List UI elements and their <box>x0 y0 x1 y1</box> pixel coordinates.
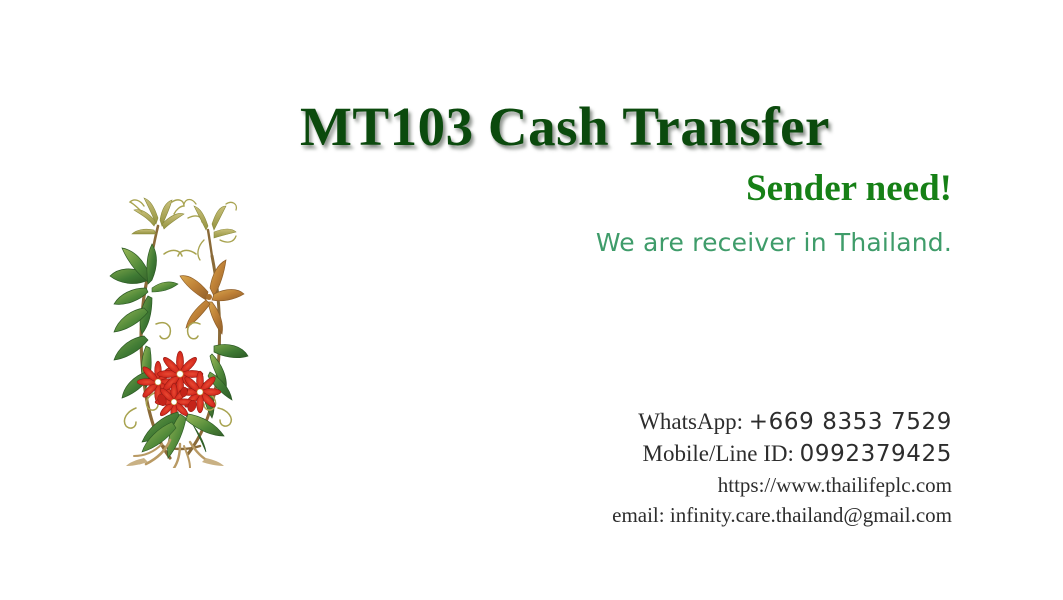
headline-block: MT103 Cash Transfer Sender need! We are … <box>300 96 954 260</box>
page-title: MT103 Cash Transfer <box>300 96 954 158</box>
tagline: We are receiver in Thailand. <box>300 226 954 260</box>
mobile-line: Mobile/Line ID: 0992379425 <box>300 438 954 470</box>
subtitle: Sender need! <box>300 166 954 212</box>
mobile-label: Mobile/Line ID: <box>643 441 794 466</box>
email-line: email: infinity.care.thailand@gmail.com <box>300 500 954 530</box>
whatsapp-number[interactable]: +669 8353 7529 <box>749 409 952 435</box>
email-label: email: <box>612 503 664 527</box>
business-card-flyer: MT103 Cash Transfer Sender need! We are … <box>0 0 1063 600</box>
botanical-vine-illustration <box>100 196 256 468</box>
whatsapp-line: WhatsApp: +669 8353 7529 <box>300 406 954 438</box>
whatsapp-label: WhatsApp: <box>638 409 743 434</box>
website-line: https://www.thailifeplc.com <box>300 470 954 500</box>
contact-block: WhatsApp: +669 8353 7529 Mobile/Line ID:… <box>300 406 954 530</box>
website-url[interactable]: https://www.thailifeplc.com <box>718 473 952 497</box>
mobile-number[interactable]: 0992379425 <box>800 441 952 467</box>
email-address[interactable]: infinity.care.thailand@gmail.com <box>670 503 952 527</box>
